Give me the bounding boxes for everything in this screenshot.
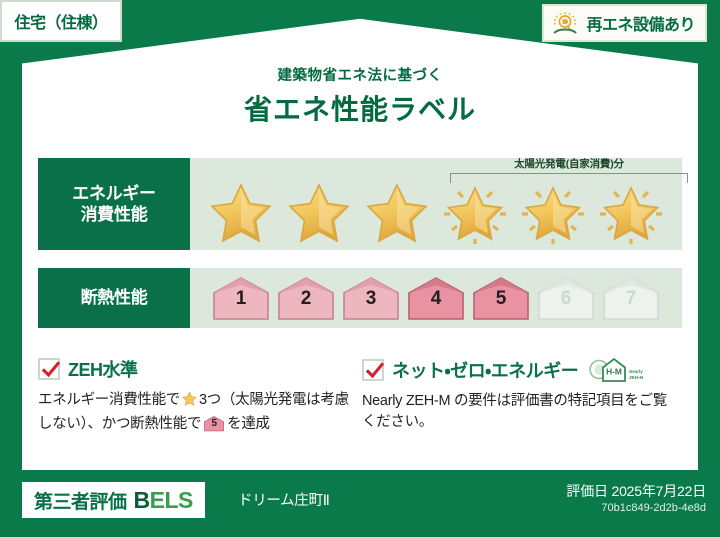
insulation-level-badge: 1 <box>210 275 272 321</box>
insulation-level-badge-achieved: 4 <box>405 275 467 321</box>
label-title-block: 建築物省エネ法に基づく 省エネ性能ラベル <box>0 64 720 128</box>
bels-certification-box: 第三者評価 BELS <box>22 482 205 518</box>
star-icon <box>204 178 278 246</box>
insulation-level-badge-inactive: 7 <box>600 275 662 321</box>
bels-energy-label: 住宅（住棟） 再エネ設備あり 建築物省エネ法に基づく <box>0 0 720 537</box>
zeh-m-caption-line1: Nearly <box>629 369 642 374</box>
star-solar-icon <box>438 178 512 246</box>
renewable-energy-label: 再エネ設備あり <box>586 11 695 35</box>
energy-performance-row: エネルギー 消費性能 太陽光発電(自家消費)分 <box>38 158 682 250</box>
insulation-level-badge: 3 <box>340 275 402 321</box>
energy-star-rating <box>190 178 682 248</box>
star-icon <box>282 178 356 246</box>
insulation-level-number: 2 <box>275 289 337 308</box>
nzeb-description: Nearly ZEH-M の要件は評価書の特記項目をご覧ください。 <box>362 391 674 434</box>
page-title: 省エネ性能ラベル <box>0 88 720 128</box>
insulation-level-number: 4 <box>405 289 467 308</box>
criteria-zeh-header: ZEH水準 <box>38 356 350 382</box>
zeh-m-logo: H-M Nearly ZEH-M <box>589 356 643 383</box>
building-type-label: 住宅（住棟） <box>14 9 107 33</box>
evaluation-date: 評価日 2025年7月22日 <box>566 481 706 501</box>
insulation-level-scale: 1 2 3 4 5 <box>190 268 682 328</box>
insulation-level-badge-inline: 5 <box>203 415 225 432</box>
zeh-m-house-icon: H-M <box>589 356 627 383</box>
nzeb-checkbox <box>362 359 384 381</box>
bels-letter-b: B <box>134 487 150 513</box>
check-icon <box>365 361 385 381</box>
insulation-label-text: 断熱性能 <box>81 287 148 308</box>
solar-sun-icon <box>550 9 580 37</box>
title-subtitle: 建築物省エネ法に基づく <box>0 64 720 85</box>
insulation-level-number: 6 <box>535 289 597 308</box>
zeh-title: ZEH水準 <box>68 356 138 382</box>
insulation-performance-row: 断熱性能 1 2 3 4 <box>38 268 682 328</box>
zeh-description: エネルギー消費性能で3つ（太陽光発電は考慮しない）、かつ断熱性能で5を達成 <box>38 390 350 436</box>
energy-stars-panel: 太陽光発電(自家消費)分 <box>190 158 682 250</box>
zeh-checkbox <box>38 358 60 380</box>
insulation-level-badge-inactive: 6 <box>535 275 597 321</box>
bels-wordmark: BELS <box>134 487 193 514</box>
zeh-m-caption-line2: ZEH-M <box>629 375 643 380</box>
renewable-energy-badge: 再エネ設備あり <box>542 4 707 42</box>
criteria-nzeb-header: ネット・ゼロ・エネルギー H-M Nearly ZEH-M <box>362 356 674 383</box>
insulation-level-number: 3 <box>340 289 402 308</box>
check-icon <box>41 360 61 380</box>
insulation-performance-label: 断熱性能 <box>38 268 190 328</box>
zeh-m-caption: Nearly ZEH-M <box>629 369 643 383</box>
third-party-eval-label: 第三者評価 <box>34 487 127 514</box>
energy-label-line1: エネルギー <box>72 183 156 204</box>
star-solar-icon <box>516 178 590 246</box>
label-footer: 第三者評価 BELS ドリーム庄町Ⅱ 評価日 2025年7月22日 70b1c8… <box>0 470 720 537</box>
building-type-tab: 住宅（住棟） <box>0 0 122 42</box>
insulation-level-number: 7 <box>600 289 662 308</box>
energy-label-line2: 消費性能 <box>81 204 148 225</box>
criteria-nzeb-column: ネット・ゼロ・エネルギー H-M Nearly ZEH-M Nearly ZEH… <box>362 356 686 436</box>
insulation-level-number: 5 <box>470 289 532 308</box>
criteria-section: ZEH水準 エネルギー消費性能で3つ（太陽光発電は考慮しない）、かつ断熱性能で5… <box>38 356 686 436</box>
criteria-zeh-column: ZEH水準 エネルギー消費性能で3つ（太陽光発電は考慮しない）、かつ断熱性能で5… <box>38 356 362 436</box>
insulation-level-badge-achieved: 5 <box>470 275 532 321</box>
bels-letters-els: ELS <box>150 487 193 513</box>
nzeb-title: ネット・ゼロ・エネルギー <box>392 357 578 383</box>
insulation-level-badge: 2 <box>275 275 337 321</box>
evaluation-id: 70b1c849-2d2b-4e8d <box>601 502 706 514</box>
star-icon <box>360 178 434 246</box>
zeh-desc-part3: を達成 <box>227 416 270 432</box>
solar-annotation-text: 太陽光発電(自家消費)分 <box>450 159 688 171</box>
project-name: ドリーム庄町Ⅱ <box>238 489 330 510</box>
star-solar-icon <box>594 178 668 246</box>
energy-performance-label: エネルギー 消費性能 <box>38 158 190 250</box>
zeh-desc-part1: エネルギー消費性能で <box>38 392 180 408</box>
insulation-level-number: 1 <box>210 289 272 308</box>
inline-level-number: 5 <box>203 419 225 429</box>
svg-text:H-M: H-M <box>606 367 622 377</box>
star-icon <box>181 390 198 414</box>
insulation-levels-panel: 1 2 3 4 5 <box>190 268 682 328</box>
